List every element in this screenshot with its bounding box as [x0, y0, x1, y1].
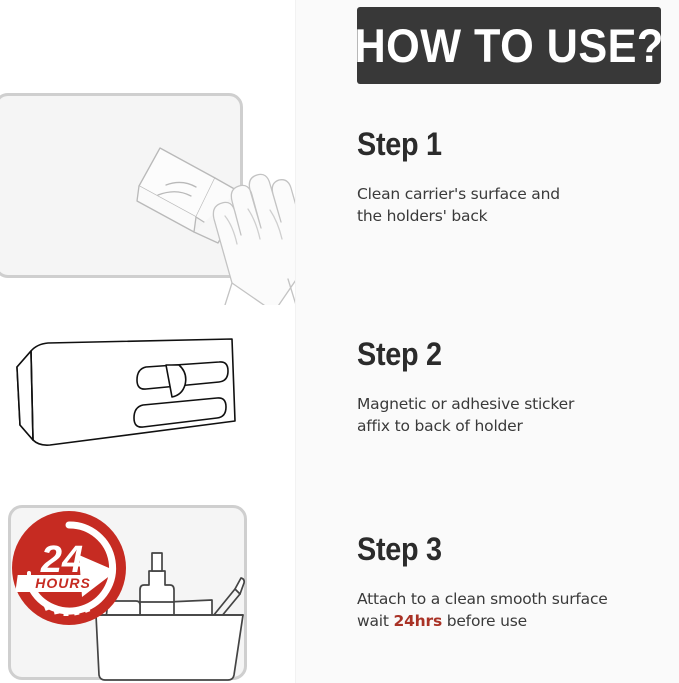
step-1-body-line-1: Clean carrier's surface and	[357, 185, 560, 203]
24-hours-badge: 24 HOURS	[10, 509, 128, 627]
step-3-title: Step 3	[357, 531, 647, 568]
step-3-body-line-1: Attach to a clean smooth surface	[357, 590, 608, 608]
step-2-illustration-holder-back	[0, 325, 265, 470]
step-1-title: Step 1	[357, 126, 647, 163]
step-1-body: Clean carrier's surface and the holders'…	[357, 183, 679, 227]
step-3-block: Step 3 Attach to a clean smooth surface …	[357, 531, 679, 632]
step-2-block: Step 2 Magnetic or adhesive sticker affi…	[357, 336, 679, 437]
step-1-block: Step 1 Clean carrier's surface and the h…	[357, 126, 679, 227]
step-2-body-line-1: Magnetic or adhesive sticker	[357, 395, 574, 413]
step-3-body-line-2-pre: wait	[357, 612, 394, 630]
step-1-body-line-2: the holders' back	[357, 207, 487, 225]
page-title: HOW TO USE?	[354, 18, 663, 73]
how-to-use-infographic: HOW TO USE?	[0, 0, 679, 683]
step-2-title: Step 2	[357, 336, 647, 373]
step-3-body-line-2-post: before use	[442, 612, 527, 630]
step-3-duration-highlight: 24hrs	[394, 612, 442, 630]
step-2-body: Magnetic or adhesive sticker affix to ba…	[357, 393, 679, 437]
step-3-illustration-badge-and-caddy: 24 HOURS	[8, 505, 247, 683]
step-3-body: Attach to a clean smooth surface wait 24…	[357, 588, 679, 632]
step-2-body-line-2: affix to back of holder	[357, 417, 523, 435]
step-1-illustration-hand-wiping	[0, 93, 295, 305]
badge-unit: HOURS	[35, 575, 91, 591]
column-divider	[295, 0, 296, 683]
header-banner: HOW TO USE?	[357, 7, 661, 84]
